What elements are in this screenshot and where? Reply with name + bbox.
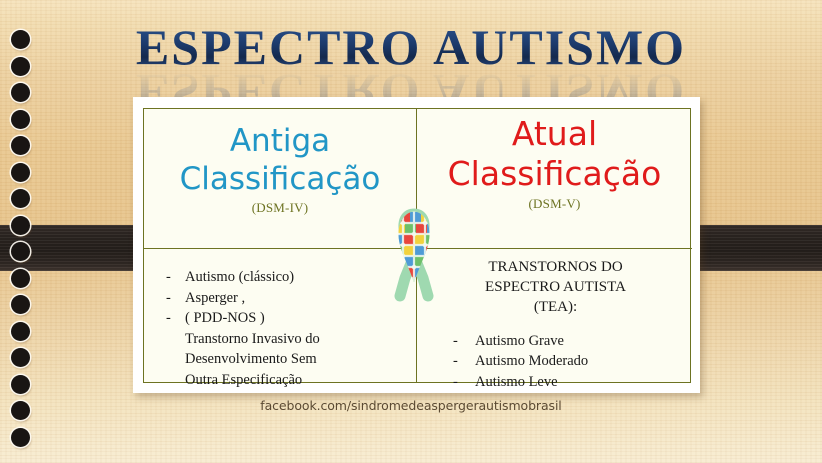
punch-hole: [11, 375, 30, 394]
punch-hole: [11, 295, 30, 314]
old-heading-line2: Classificação: [144, 161, 416, 199]
bullet-dash: -: [453, 351, 475, 372]
punch-hole: [11, 348, 30, 367]
continuation-line-2: Desenvolvimento Sem: [185, 349, 410, 370]
autism-awareness-puzzle-ribbon-icon: [383, 204, 445, 304]
bullet-dash: -: [166, 288, 185, 309]
new-heading-line1: Atual: [417, 114, 692, 154]
column-body-new: TRANSTORNOS DO ESPECTRO AUTISTA (TEA): -…: [417, 249, 692, 382]
continuation-line-3: Outra Especificação: [185, 370, 410, 391]
punch-hole: [11, 216, 30, 235]
list-item-label: Asperger ,: [185, 288, 410, 309]
decorative-band-right: [683, 225, 822, 271]
punch-hole: [11, 322, 30, 341]
new-body-heading-line3: (TEA):: [427, 298, 684, 318]
punch-hole-strip: [0, 0, 46, 463]
punch-hole: [11, 428, 30, 447]
list-item-label: Autismo Grave: [475, 331, 684, 352]
list-item: - Autismo Leve: [453, 372, 684, 393]
continuation-line-1: Transtorno Invasivo do: [185, 329, 410, 350]
old-subtitle: (DSM-IV): [144, 200, 416, 216]
bullet-dash: -: [453, 331, 475, 352]
column-header-new: Atual Classificação (DSM-V): [417, 109, 692, 248]
list-item: - Autismo Grave: [453, 331, 684, 352]
punch-hole: [11, 83, 30, 102]
punch-hole: [11, 242, 30, 261]
slide-canvas: ESPECTRO AUTISMO ESPECTRO AUTISMO Antiga…: [0, 0, 822, 463]
list-item-label: Autismo Moderado: [475, 351, 684, 372]
new-body-heading: TRANSTORNOS DO ESPECTRO AUTISTA (TEA):: [427, 258, 684, 318]
old-heading-line1: Antiga: [144, 123, 416, 161]
bullet-dash: -: [453, 372, 475, 393]
punch-hole: [11, 110, 30, 129]
list-item: - Asperger ,: [166, 288, 410, 309]
new-subtitle: (DSM-V): [417, 196, 692, 212]
severity-list: - Autismo Grave - Autismo Moderado - Aut…: [427, 331, 684, 393]
bullet-dash: -: [166, 308, 185, 329]
list-item-label: ( PDD-NOS ): [185, 308, 410, 329]
punch-hole: [11, 269, 30, 288]
list-item: - Autismo Moderado: [453, 351, 684, 372]
list-item: - ( PDD-NOS ): [166, 308, 410, 329]
bullet-dash: -: [166, 267, 185, 288]
punch-hole: [11, 57, 30, 76]
new-body-heading-line1: TRANSTORNOS DO: [427, 258, 684, 278]
list-item: - Autismo (clássico): [166, 267, 410, 288]
page-title: ESPECTRO AUTISMO: [136, 22, 686, 72]
punch-hole: [11, 189, 30, 208]
punch-hole: [11, 136, 30, 155]
list-item-label: Autismo Leve: [475, 372, 684, 393]
punch-hole: [11, 163, 30, 182]
footer-url: facebook.com/sindromedeaspergerautismobr…: [0, 398, 822, 413]
column-header-old: Antiga Classificação (DSM-IV): [144, 109, 416, 248]
list-item-label: Autismo (clássico): [185, 267, 410, 288]
new-body-heading-line2: ESPECTRO AUTISTA: [427, 278, 684, 298]
band-streak: [683, 225, 822, 271]
punch-hole: [11, 30, 30, 49]
column-body-old: - Autismo (clássico) - Asperger , - ( PD…: [144, 249, 416, 382]
new-heading-line2: Classificação: [417, 154, 692, 194]
